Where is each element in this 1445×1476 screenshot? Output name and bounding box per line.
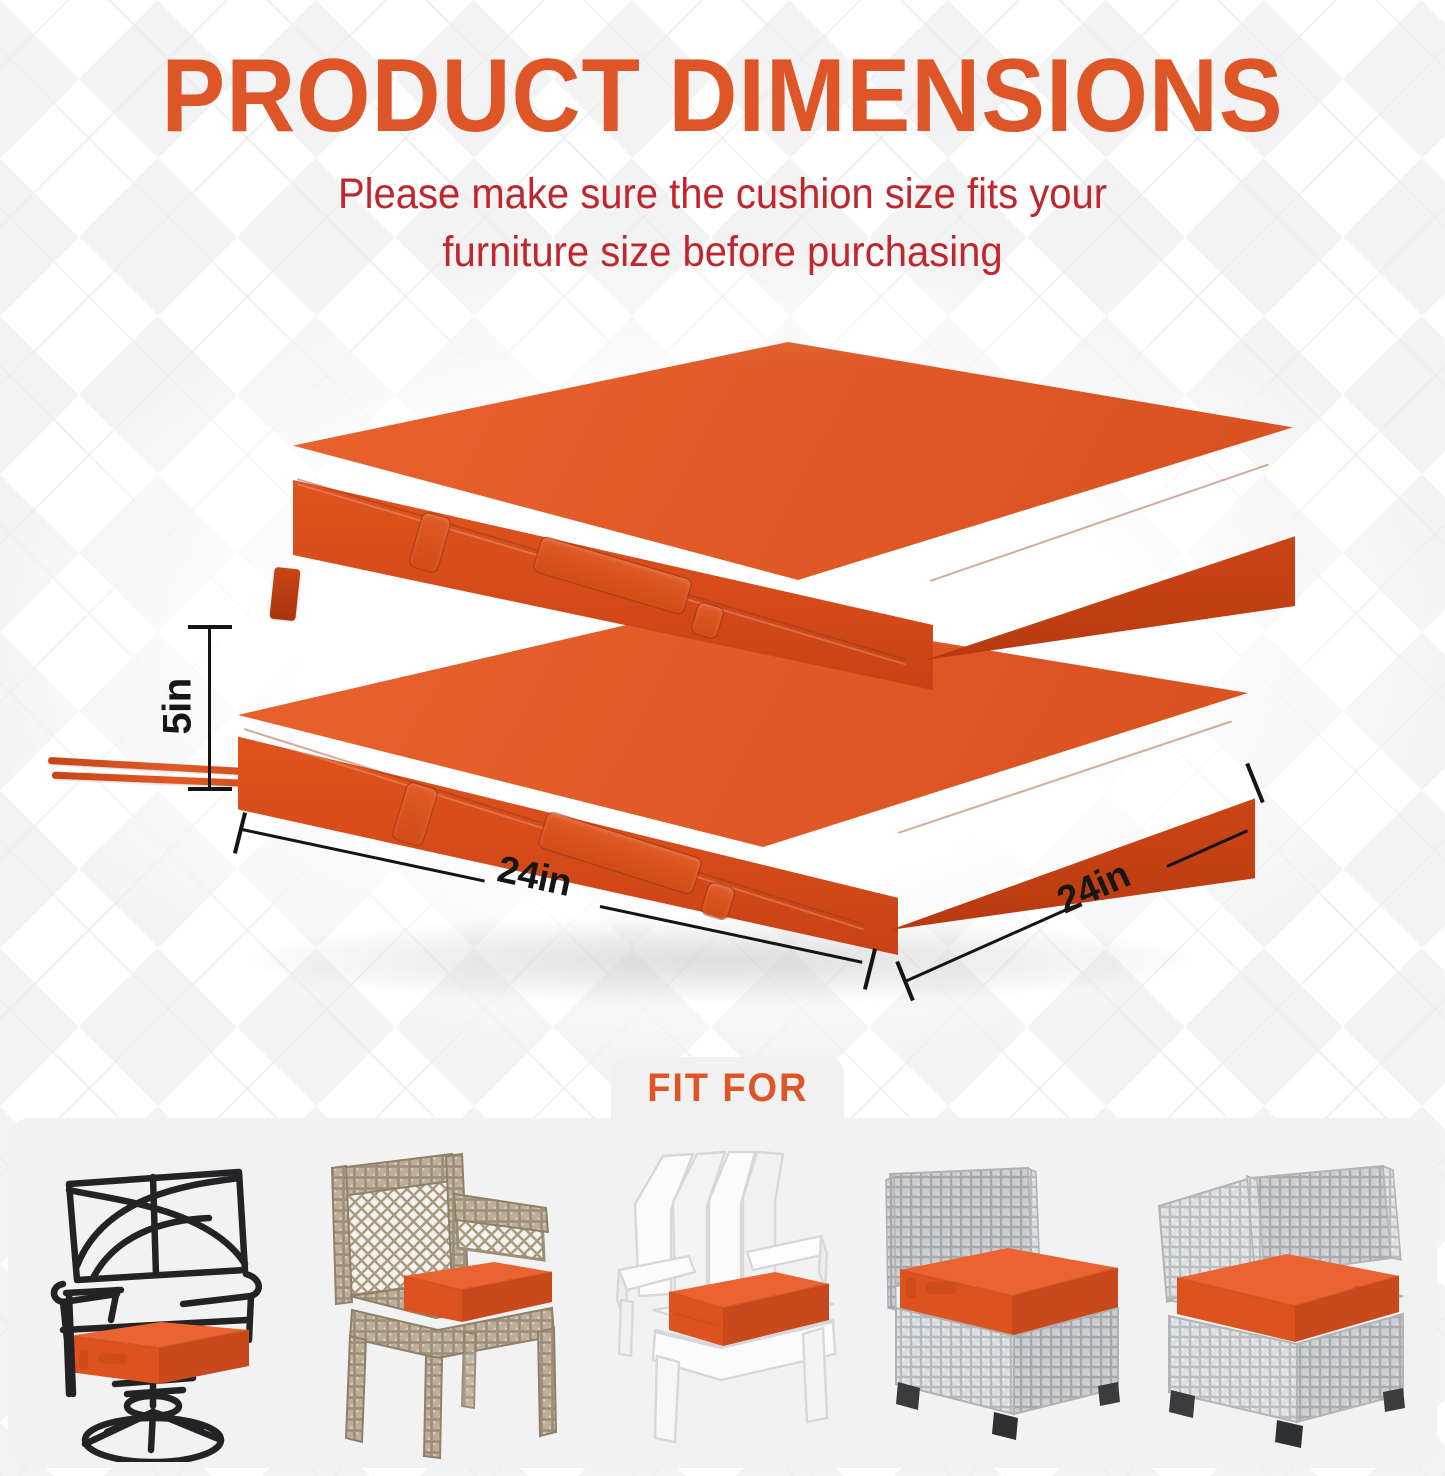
upper-cushion: [0, 300, 1445, 720]
fit-item-corner-sectional-seat: Corner wicker sectional seat: [1152, 1132, 1420, 1462]
product-stage: 5in 24in 24in: [0, 300, 1445, 1060]
fit-for-tab-label: FIT FOR: [647, 1066, 808, 1111]
fit-for-item-row: Metal swivel patio chair: [8, 1118, 1437, 1468]
fit-item-wicker-dining-chair: Wicker dining arm chair: [307, 1132, 575, 1462]
subtitle-line-2: furniture size before purchasing: [51, 224, 1395, 282]
page-title: PRODUCT DIMENSIONS: [58, 0, 1387, 148]
height-dimension-cap-bottom: [188, 787, 232, 791]
header: PRODUCT DIMENSIONS Please make sure the …: [0, 0, 1445, 281]
height-dimension-cap-top: [188, 625, 232, 629]
infographic-page: PRODUCT DIMENSIONS Please make sure the …: [0, 0, 1445, 1476]
adirondack-chair-icon: [597, 1144, 847, 1462]
height-dimension-line: [208, 625, 211, 790]
fit-item-armless-sectional-seat: Armless wicker sectional seat: [870, 1132, 1138, 1462]
subtitle-line-1: Please make sure the cushion size fits y…: [51, 166, 1395, 224]
fit-for-tab: FIT FOR: [611, 1057, 844, 1119]
corner-sectional-icon: [1155, 1162, 1417, 1462]
fit-for-panel: Metal swivel patio chair: [8, 1118, 1437, 1468]
fit-item-adirondack-chair: White Adirondack chair: [588, 1132, 856, 1462]
metal-swivel-chair-icon: [33, 1144, 285, 1462]
armless-sectional-icon: [876, 1162, 1132, 1462]
wicker-dining-chair-icon: [316, 1150, 566, 1462]
page-subtitle: Please make sure the cushion size fits y…: [51, 166, 1395, 281]
fit-item-metal-swivel-chair: Metal swivel patio chair: [25, 1132, 293, 1462]
height-dimension-label: 5in: [156, 678, 201, 734]
